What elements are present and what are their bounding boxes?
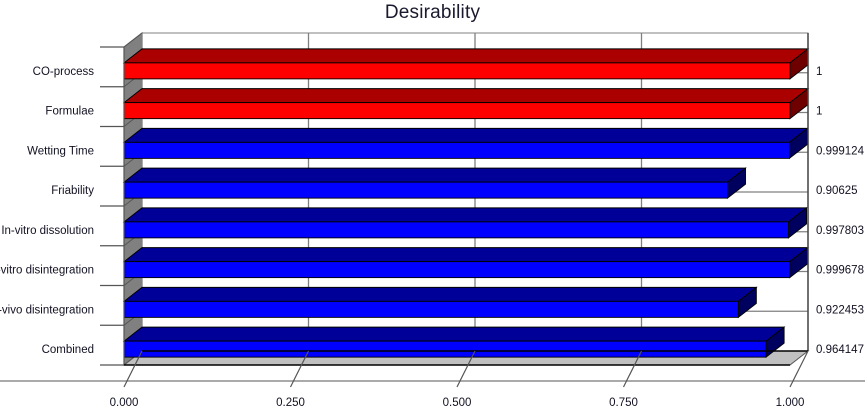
xtick-label-0: 0.000	[110, 397, 139, 409]
bar-front-face-2	[124, 142, 789, 158]
category-label-4: In-vitro dissolution	[1, 225, 94, 237]
category-label-1: Formulae	[45, 106, 94, 118]
bar-value-label-0: 1	[816, 66, 822, 78]
bar-front-face-4	[124, 222, 789, 238]
bar-top-face-1	[124, 89, 808, 103]
category-label-5: In-vitro disintegration	[0, 265, 94, 277]
category-label-0: CO-process	[33, 66, 95, 78]
bar-0	[124, 49, 808, 79]
bar-value-label-3: 0.90625	[816, 185, 858, 197]
bar-front-face-3	[124, 182, 728, 198]
bar-front-face-0	[124, 63, 790, 79]
bar-top-face-5	[124, 248, 808, 262]
bar-front-face-5	[124, 262, 790, 278]
bar-7	[124, 327, 784, 357]
xtick-label-1: 0.250	[276, 397, 305, 409]
bar-value-label-7: 0.964147	[816, 344, 864, 356]
bar-top-face-3	[124, 168, 746, 182]
bar-value-label-5: 0.999678	[816, 265, 864, 277]
bar-top-face-2	[124, 128, 807, 142]
bar-value-label-6: 0.922453	[816, 304, 864, 316]
bar-value-label-4: 0.997803	[816, 225, 864, 237]
bar-value-label-1: 1	[816, 106, 822, 118]
bar-1	[124, 89, 808, 119]
bar-top-face-0	[124, 49, 808, 63]
bar-front-face-6	[124, 301, 738, 317]
bar-5	[124, 248, 808, 278]
category-label-6: In-vivo disintegration	[0, 304, 94, 316]
category-label-2: Wetting Time	[27, 145, 94, 157]
xtick-label-4: 1.000	[776, 397, 805, 409]
category-label-7: Combined	[42, 344, 94, 356]
xtick-label-3: 0.750	[609, 397, 638, 409]
bar-front-face-1	[124, 103, 790, 119]
bar-4	[124, 208, 807, 238]
bar-top-face-4	[124, 208, 807, 222]
desirability-chart: Desirability 0.964147Combined0.922453In-…	[0, 0, 865, 409]
category-label-3: Friability	[51, 185, 94, 197]
bar-6	[124, 287, 756, 317]
bar-3	[124, 168, 746, 198]
xtick-label-2: 0.500	[443, 397, 472, 409]
bar-front-face-7	[124, 341, 766, 357]
bar-2	[124, 128, 807, 158]
bar-top-face-6	[124, 287, 756, 301]
chart-plot-area: 0.964147Combined0.922453In-vivo disinteg…	[0, 0, 865, 409]
bar-top-face-7	[124, 327, 784, 341]
bar-value-label-2: 0.999124	[816, 145, 865, 157]
